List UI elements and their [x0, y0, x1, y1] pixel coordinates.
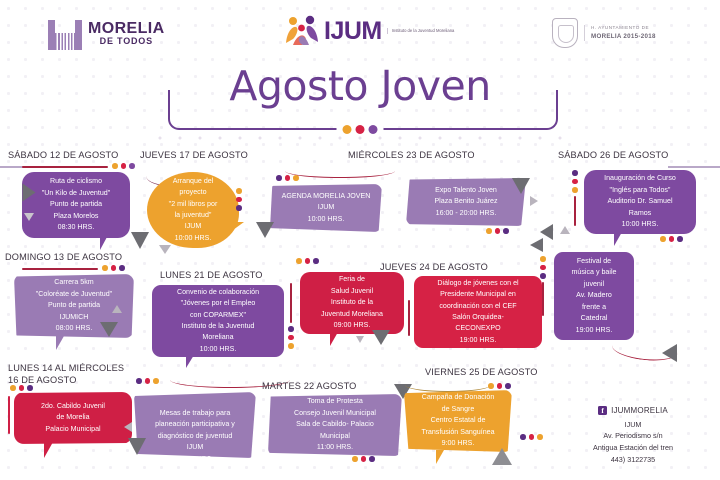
contact-block: f IJUMMORELIA IJUM Av. Periodismo s/n An… [558, 404, 708, 466]
facebook-icon[interactable]: f [598, 406, 607, 415]
dots-group-10 [352, 456, 375, 462]
accent-line-7 [542, 282, 544, 316]
day-label-sabado-12: SÁBADO 12 DE AGOSTO [8, 150, 118, 162]
title-dots [337, 125, 384, 134]
cathedral-icon [48, 16, 82, 50]
day-label-lunes-14: LUNES 14 AL MIÉRCOLES 16 DE AGOSTO [8, 363, 124, 386]
decor-triangle-14 [372, 330, 390, 345]
page-title: Agosto Joven [0, 66, 720, 107]
day-label-lunes-21: LUNES 21 DE AGOSTO [160, 270, 263, 282]
event-bubble-expo-talento: Expo Talento Joven Plaza Benito Juárez 1… [406, 178, 526, 226]
decor-triangle-10 [512, 178, 530, 194]
bubble-tail-6 [330, 332, 338, 346]
decor-triangle-2 [24, 213, 34, 221]
event-bubble-festival: Festival de música y baile juvenil Av. M… [554, 252, 634, 340]
dots-group-5 [288, 326, 294, 349]
title-rule-right [668, 166, 720, 168]
event-bubble-lunes-14: 2do. Cabildo Juvenil de Morelia Palacio … [14, 392, 132, 444]
ijum-subtitle: Instituto de la Juventud Moreliana [387, 28, 455, 34]
header: MORELIA DE TODOS IJUM Instituto de la Ju… [0, 0, 720, 62]
bubble-tail-3 [44, 442, 53, 458]
decor-triangle-8 [128, 438, 146, 455]
dots-group-13 [572, 170, 578, 193]
dots-group-6 [136, 378, 159, 384]
dots-group-1 [112, 163, 135, 169]
accent-line-6 [574, 196, 576, 226]
accent-swoosh-3 [285, 164, 395, 178]
dots-group-3 [10, 385, 33, 391]
day-label-viernes-25: VIERNES 25 DE AGOSTO [425, 367, 538, 379]
accent-line-2 [22, 268, 98, 270]
event-bubble-feria-salud: Feria de Salud Juvenil Instituto de la J… [300, 272, 404, 334]
accent-line-4 [290, 283, 292, 323]
day-label-martes-22: MARTES 22 AGOSTO [262, 381, 356, 393]
accent-line-1 [22, 166, 108, 168]
day-label-jueves-17: JUEVES 17 DE AGOSTO [140, 150, 248, 162]
dots-group-2 [102, 265, 125, 271]
event-bubble-martes-22: Toma de Protesta Consejo Juvenil Municip… [268, 394, 402, 456]
event-bubble-viernes-25: Campaña de Donación de Sangre Centro Est… [404, 390, 512, 452]
decor-triangle-11 [530, 196, 538, 206]
contact-address-1: Av. Periodismo s/n [558, 430, 708, 442]
day-label-jueves-24: JUEVES 24 DE AGOSTO [380, 262, 488, 274]
event-bubble-sabado-12: Ruta de ciclismo "Un Kilo de Juventud" P… [22, 172, 130, 238]
ijum-people-icon [285, 15, 319, 47]
day-label-domingo-13: DOMINGO 13 DE AGOSTO [5, 252, 122, 264]
accent-line-5 [408, 300, 410, 336]
dots-group-9 [296, 258, 319, 264]
morelia-logo-line1: MORELIA [88, 21, 165, 37]
event-bubble-sabado-26: Inauguración de Curso "Inglés para Todos… [584, 170, 696, 234]
dots-group-12 [520, 434, 543, 440]
decor-triangle-19 [560, 226, 570, 234]
morelia-logo-line2: DE TODOS [88, 37, 165, 46]
logo-morelia: MORELIA DE TODOS [48, 16, 165, 50]
decor-triangle-13 [356, 336, 364, 343]
title-dot-line [150, 136, 570, 140]
decor-triangle-5 [131, 232, 149, 249]
facebook-row[interactable]: f IJUMMORELIA [558, 404, 708, 417]
facebook-handle: IJUMMORELIA [611, 404, 668, 417]
decor-triangle-7 [124, 422, 132, 432]
ijum-wordmark: IJUM [324, 19, 382, 44]
day-label-sabado-26: SÁBADO 26 DE AGOSTO [558, 150, 668, 162]
dots-group-14 [660, 236, 683, 242]
decor-triangle-6 [159, 245, 171, 254]
contact-address-2: Antigua Estación del tren [558, 442, 708, 454]
infographic-poster: MORELIA DE TODOS IJUM Instituto de la Ju… [0, 0, 720, 480]
bubble-tail-5 [186, 355, 194, 368]
decor-triangle-9 [256, 222, 274, 238]
dots-group-11 [488, 383, 511, 389]
decor-triangle-18 [540, 224, 553, 240]
title-block: Agosto Joven [0, 66, 720, 138]
contact-phone: 443) 3122735 [558, 454, 708, 466]
decor-triangle-4 [100, 322, 118, 337]
dots-group-7 [276, 175, 299, 181]
event-bubble-lunes-21: Convenio de colaboración "Jóvenes por el… [152, 285, 284, 357]
event-bubble-agenda-miercoles: AGENDA MORELIA JOVEN IJUM 10:00 HRS. [270, 184, 382, 232]
logo-ayuntamiento: H. AYUNTAMIENTO DE MORELIA 2015-2018 [552, 18, 656, 48]
bubble-tail-8 [614, 232, 622, 246]
event-bubble-agenda-lunes: AGENDA MORELIA JOVEN Mesas de trabajo pa… [134, 392, 256, 458]
accent-swoosh-4 [405, 378, 491, 392]
decor-triangle-20 [662, 344, 677, 362]
day-label-miercoles-23: MIÉRCOLES 23 DE AGOSTO [348, 150, 475, 162]
contact-org: IJUM [558, 419, 708, 431]
dots-group-15 [540, 256, 546, 279]
ayuntamiento-line2: MORELIA 2015-2018 [591, 32, 656, 41]
logo-ijum: IJUM Instituto de la Juventud Moreliana [285, 15, 454, 47]
bubble-tail-1 [100, 237, 107, 250]
decor-triangle-12 [530, 238, 543, 252]
coat-of-arms-icon [552, 18, 578, 48]
decor-triangle-1 [23, 184, 36, 202]
event-bubble-jueves-24: Diálogo de jóvenes con el Presidente Mun… [414, 276, 542, 348]
bubble-tail-2 [56, 336, 64, 350]
ayuntamiento-line1: H. AYUNTAMIENTO DE [591, 25, 656, 32]
bubble-tail-4 [222, 222, 244, 238]
bubble-tail-7 [436, 450, 444, 464]
decor-triangle-17 [492, 448, 512, 465]
dots-group-4 [236, 188, 242, 211]
decor-triangle-3 [112, 305, 122, 313]
accent-line-3 [8, 396, 10, 434]
dots-group-8 [486, 228, 509, 234]
